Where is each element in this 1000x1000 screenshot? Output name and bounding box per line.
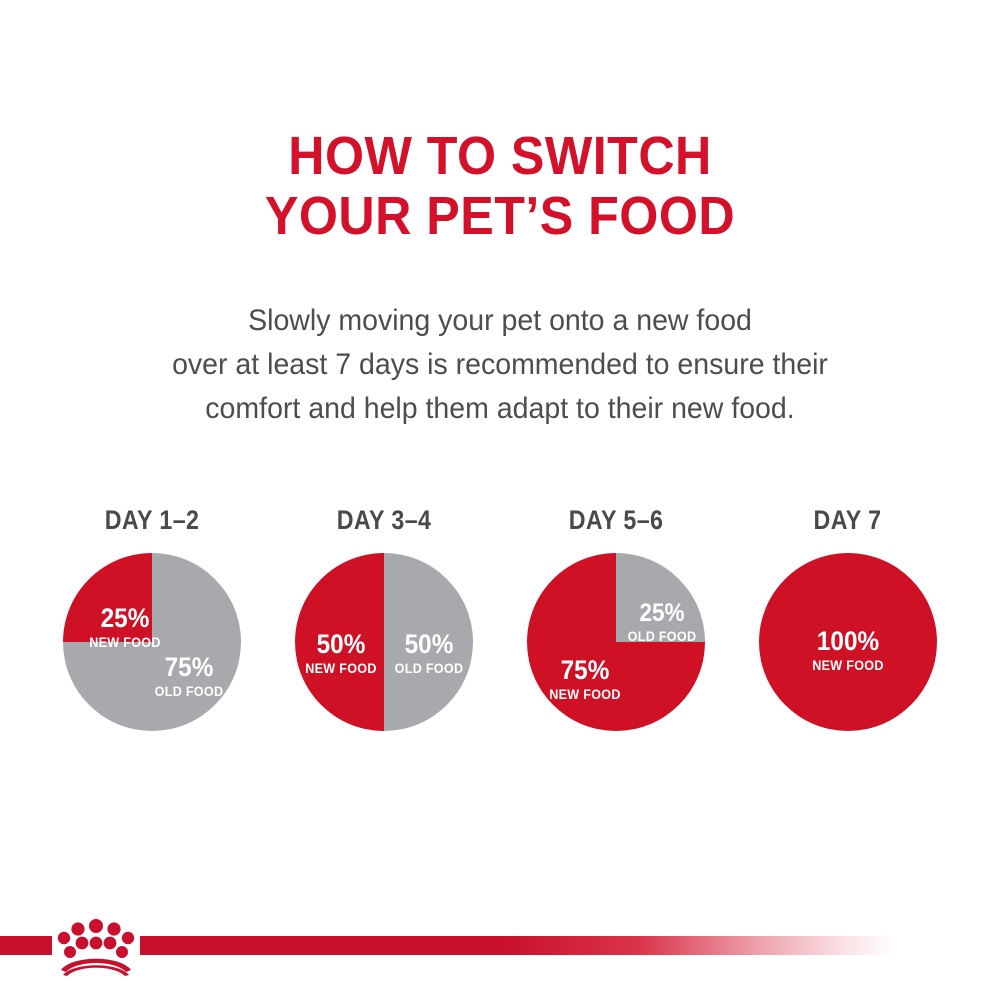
pie-cell-day-1-2: DAY 1–2 25% NEW FOOD 75% OLD FOOD: [36, 505, 268, 731]
intro-line-2: over at least 7 days is recommended to e…: [54, 343, 947, 387]
page-title-line-1: HOW TO SWITCH: [35, 126, 965, 186]
pie-chart-day-5-6: 25% OLD FOOD 75% NEW FOOD: [527, 553, 705, 731]
infographic-page: HOW TO SWITCH YOUR PET’S FOOD Slowly mov…: [0, 0, 1000, 1000]
pie-cell-day-5-6: DAY 5–6 25% OLD FOOD 75% NEW FOOD: [500, 505, 732, 731]
pie-cell-day-3-4: DAY 3–4 50% NEW FOOD 50% OLD FOOD: [268, 505, 500, 731]
pie-chart-day-1-2: 25% NEW FOOD 75% OLD FOOD: [63, 553, 241, 731]
footer-bar-left: [0, 936, 52, 955]
pie-chart-day-3-4: 50% NEW FOOD 50% OLD FOOD: [295, 553, 473, 731]
footer: [0, 905, 1000, 1000]
royal-canin-crown-logo: [52, 915, 140, 977]
pie-chart-row: DAY 1–2 25% NEW FOOD 75% OLD FOOD DAY 3–…: [0, 505, 1000, 765]
page-title: HOW TO SWITCH YOUR PET’S FOOD: [35, 126, 965, 246]
pie-disc-1: [63, 553, 241, 731]
page-title-line-2: YOUR PET’S FOOD: [35, 186, 965, 246]
day-label-1: DAY 1–2: [105, 505, 200, 535]
pie-disc-4: [759, 553, 937, 731]
intro-paragraph: Slowly moving your pet onto a new food o…: [54, 299, 947, 431]
day-label-4: DAY 7: [814, 505, 882, 535]
pie-disc-2: [295, 553, 473, 731]
day-label-2: DAY 3–4: [337, 505, 432, 535]
intro-line-1: Slowly moving your pet onto a new food: [54, 299, 947, 343]
pie-disc-3: [527, 553, 705, 731]
pie-cell-day-7: DAY 7 100% NEW FOOD: [732, 505, 964, 731]
pie-chart-day-7: 100% NEW FOOD: [759, 553, 937, 731]
intro-line-3: comfort and help them adapt to their new…: [54, 387, 947, 431]
footer-bar-right: [140, 936, 1000, 955]
day-label-3: DAY 5–6: [569, 505, 664, 535]
